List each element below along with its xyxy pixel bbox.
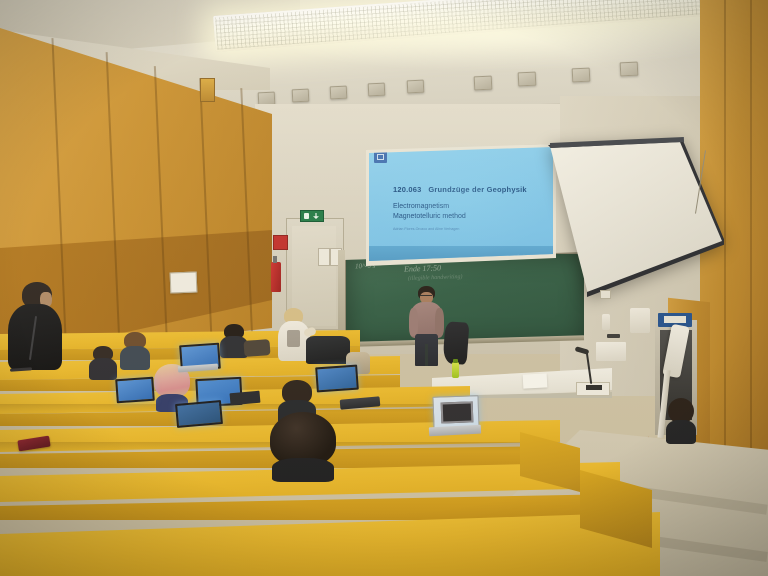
student-row2-a — [118, 332, 152, 370]
laptop[interactable] — [316, 366, 356, 394]
wood-seam — [750, 0, 752, 520]
ceiling-vent — [407, 80, 425, 94]
ceiling-vent — [292, 89, 310, 103]
student-left-coat — [4, 282, 70, 374]
chalkboard-note: (illegible handwriting) — [408, 274, 463, 282]
laptop[interactable] — [429, 396, 481, 438]
student-torso — [666, 420, 696, 444]
wall-speaker — [200, 78, 215, 102]
lecturer-glasses-icon — [420, 295, 432, 299]
second-screen-surface — [546, 140, 724, 320]
wood-seam — [724, 0, 726, 520]
papers-on-desk — [523, 373, 548, 388]
bag-on-desk — [243, 339, 270, 357]
student-row2-b — [88, 346, 118, 380]
ceiling-vent — [572, 68, 591, 83]
desk-row — [0, 512, 660, 576]
soap-dispenser — [602, 314, 610, 330]
fire-extinguisher — [271, 262, 281, 292]
laptop-base — [178, 364, 218, 373]
wall-sink — [596, 342, 626, 361]
water-bottle-cap — [453, 359, 458, 363]
laptop-base — [429, 425, 481, 437]
laptop-screen — [115, 377, 155, 404]
laptop-screen — [315, 365, 359, 393]
student-shirt-print — [287, 330, 300, 347]
student-dark-jacket — [306, 330, 350, 364]
wall-outlet — [600, 290, 611, 299]
sink-faucet — [607, 334, 620, 338]
light-switch-panel[interactable] — [318, 248, 330, 266]
student-jacket — [306, 336, 350, 364]
av-rack-panel-label — [664, 316, 686, 323]
exit-sign — [300, 210, 324, 222]
student-torso — [120, 346, 150, 370]
laptop[interactable] — [116, 378, 152, 404]
lecturer-arm — [409, 308, 418, 336]
student-torso — [272, 458, 334, 482]
lecturer-leg-gap — [425, 344, 428, 366]
slide-course-code: 120.063 — [393, 185, 422, 194]
university-logo-icon — [374, 151, 387, 163]
ceiling-vent — [474, 76, 493, 91]
lecturer-arm — [435, 308, 444, 336]
slide-topic-1: Electromagnetism — [393, 203, 449, 210]
ceiling-vent — [620, 62, 639, 77]
projected-slide: 120.063 Grundzüge der Geophysik Electrom… — [369, 147, 553, 261]
ceiling-vent — [330, 86, 348, 100]
laptop[interactable] — [180, 344, 218, 374]
ceiling-light-glow — [200, 0, 740, 96]
second-projection-screen — [546, 140, 724, 320]
lecture-hall-photo: 10^-6 s Ende 17:50 (illegible handwritin… — [0, 0, 768, 576]
student-jacket — [8, 304, 62, 370]
ceiling-vent — [518, 72, 537, 87]
laptop-screen-content — [441, 401, 474, 423]
ceiling-vent — [368, 83, 386, 97]
student-right-back — [664, 398, 698, 444]
fire-extinguisher-nozzle — [273, 256, 277, 263]
laptop[interactable] — [176, 402, 220, 426]
water-bottle — [452, 362, 459, 378]
slide-authors: Adrian Flores-Orozco and Aline Verhagen — [393, 227, 459, 231]
student-curly-front — [262, 412, 348, 480]
paper-towel-dispenser — [630, 308, 650, 333]
chalkboard-note: Ende 17:50 — [404, 263, 441, 273]
slide-course-title: Grundzüge der Geophysik — [428, 185, 526, 194]
fire-alarm-sign — [273, 235, 288, 250]
av-control-panel-display — [586, 385, 602, 390]
wall-notice-placard — [170, 272, 198, 294]
laptop-screen — [432, 395, 479, 429]
student-torso — [89, 358, 117, 380]
slide-course-line: 120.063 Grundzüge der Geophysik — [393, 185, 527, 194]
slide-topic-2: Magnetotelluric method — [393, 213, 466, 220]
laptop-screen — [175, 400, 223, 428]
